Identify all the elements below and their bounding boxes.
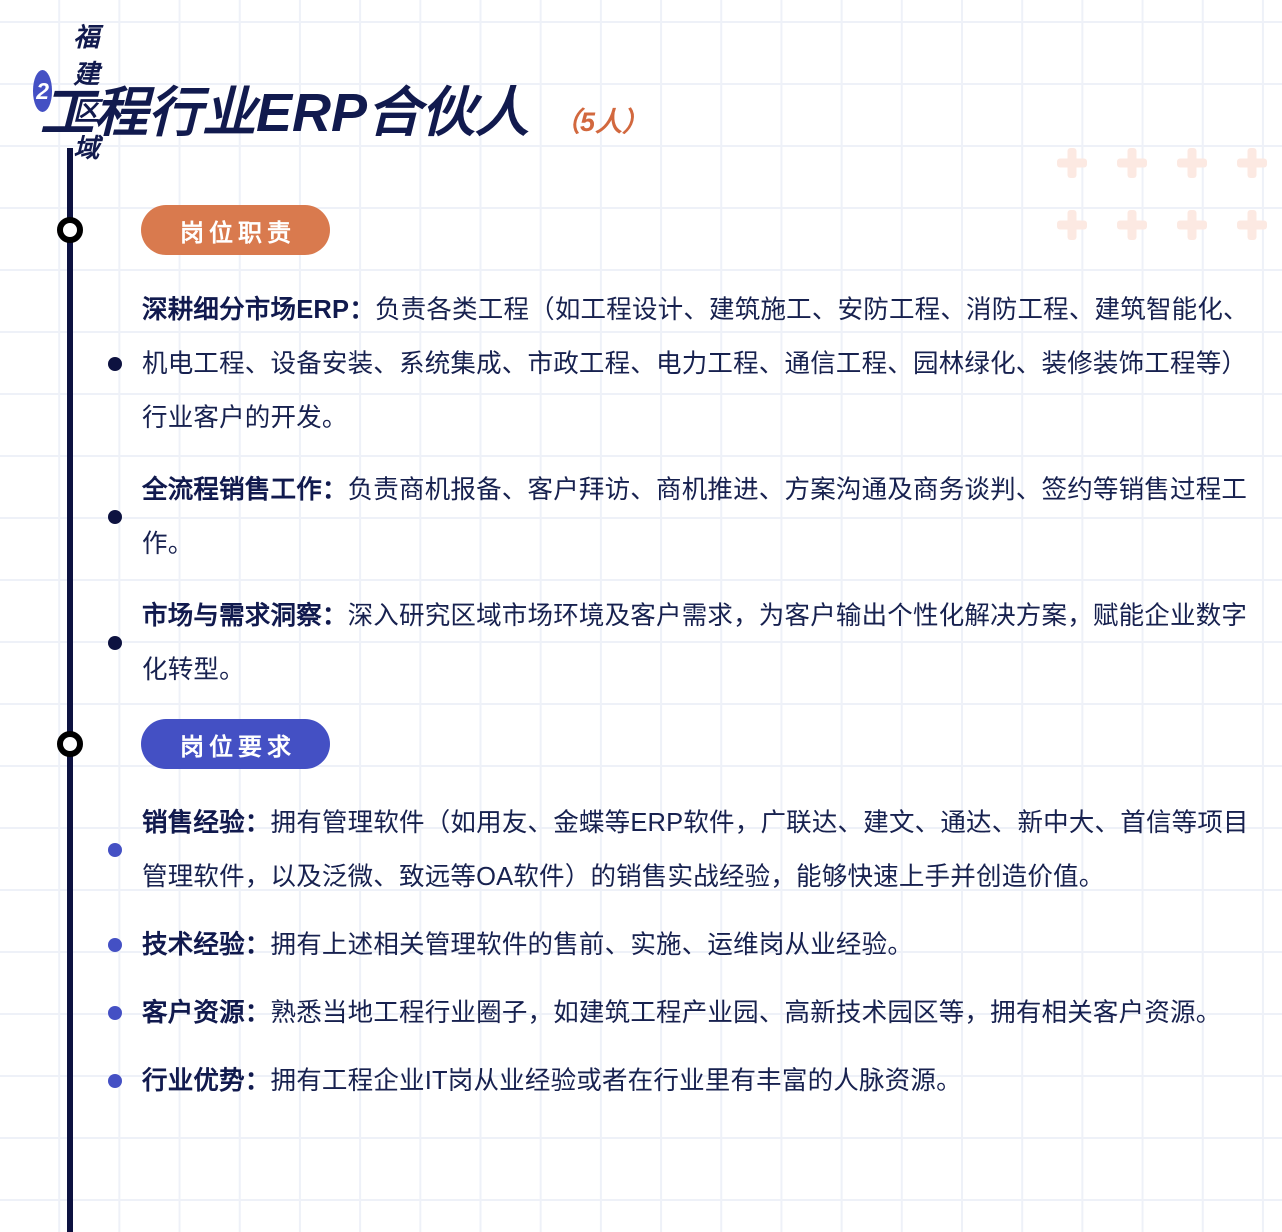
requirements-list: 销售经验：拥有管理软件（如用友、金蝶等ERP软件，广联达、建文、通达、新中大、首… [108,796,1268,1122]
list-item: 行业优势：拥有工程企业IT岗从业经验或者在行业里有丰富的人脉资源。 [108,1054,1268,1108]
bullet-icon [108,636,122,650]
page-title: 工程行业ERP合伙人 [40,68,529,147]
title-row: 工程行业ERP合伙人 （5人） [40,68,649,147]
plus-icon [1162,132,1222,194]
list-item-lead: 技术经验： [142,931,271,959]
plus-icon [1042,194,1102,256]
list-item-lead: 全流程销售工作： [142,476,348,504]
list-item-body: 拥有工程企业IT岗从业经验或者在行业里有丰富的人脉资源。 [271,1067,962,1095]
bullet-icon [108,510,122,524]
bullet-icon [108,1074,122,1088]
timeline-vertical-line [67,148,73,1232]
bullet-icon [108,843,122,857]
list-item: 市场与需求洞察：深入研究区域市场环境及客户需求，为客户输出个性化解决方案，赋能企… [108,589,1268,697]
list-item-text: 技术经验：拥有上述相关管理软件的售前、实施、运维岗从业经验。 [142,918,1268,972]
plus-icon [1102,194,1162,256]
list-item: 技术经验：拥有上述相关管理软件的售前、实施、运维岗从业经验。 [108,918,1268,972]
list-item-text: 深耕细分市场ERP：负责各类工程（如工程设计、建筑施工、安防工程、消防工程、建筑… [142,283,1268,445]
section-pill-duties: 岗位职责 [141,205,330,255]
list-item: 销售经验：拥有管理软件（如用友、金蝶等ERP软件，广联达、建文、通达、新中大、首… [108,796,1268,904]
plus-icon [1222,194,1282,256]
list-item-text: 销售经验：拥有管理软件（如用友、金蝶等ERP软件，广联达、建文、通达、新中大、首… [142,796,1268,904]
plus-icon [1102,132,1162,194]
list-item-lead: 客户资源： [142,999,271,1027]
plus-icon [1042,132,1102,194]
headcount-label: （5人） [553,100,649,139]
plus-icon [1222,132,1282,194]
list-item: 全流程销售工作：负责商机报备、客户拜访、商机推进、方案沟通及商务谈判、签约等销售… [108,463,1268,571]
bullet-icon [108,357,122,371]
timeline-marker-duties [57,217,83,243]
list-item-text: 市场与需求洞察：深入研究区域市场环境及客户需求，为客户输出个性化解决方案，赋能企… [142,589,1268,697]
list-item-lead: 销售经验： [142,809,271,837]
plus-decoration-cluster [1042,132,1282,256]
job-posting-page: 2 福建区域 工程行业ERP合伙人 （5人） 岗位职责 岗位要求 深耕细分市场E… [0,0,1282,1232]
list-item-body: 拥有管理软件（如用友、金蝶等ERP软件，广联达、建文、通达、新中大、首信等项目管… [142,809,1249,891]
bullet-icon [108,1006,122,1020]
bullet-icon [108,938,122,952]
list-item-text: 全流程销售工作：负责商机报备、客户拜访、商机推进、方案沟通及商务谈判、签约等销售… [142,463,1268,571]
list-item-text: 行业优势：拥有工程企业IT岗从业经验或者在行业里有丰富的人脉资源。 [142,1054,1268,1108]
list-item: 客户资源：熟悉当地工程行业圈子，如建筑工程产业园、高新技术园区等，拥有相关客户资… [108,986,1268,1040]
list-item-body: 拥有上述相关管理软件的售前、实施、运维岗从业经验。 [271,931,914,959]
list-item-body: 熟悉当地工程行业圈子，如建筑工程产业园、高新技术园区等，拥有相关客户资源。 [271,999,1222,1027]
section-pill-requirements: 岗位要求 [141,719,330,769]
list-item-text: 客户资源：熟悉当地工程行业圈子，如建筑工程产业园、高新技术园区等，拥有相关客户资… [142,986,1268,1040]
timeline-marker-requirements [57,731,83,757]
list-item: 深耕细分市场ERP：负责各类工程（如工程设计、建筑施工、安防工程、消防工程、建筑… [108,283,1268,445]
list-item-lead: 市场与需求洞察： [142,602,348,630]
list-item-lead: 行业优势： [142,1067,271,1095]
plus-icon [1162,194,1222,256]
list-item-lead: 深耕细分市场ERP： [142,296,375,324]
duties-list: 深耕细分市场ERP：负责各类工程（如工程设计、建筑施工、安防工程、消防工程、建筑… [108,283,1268,715]
